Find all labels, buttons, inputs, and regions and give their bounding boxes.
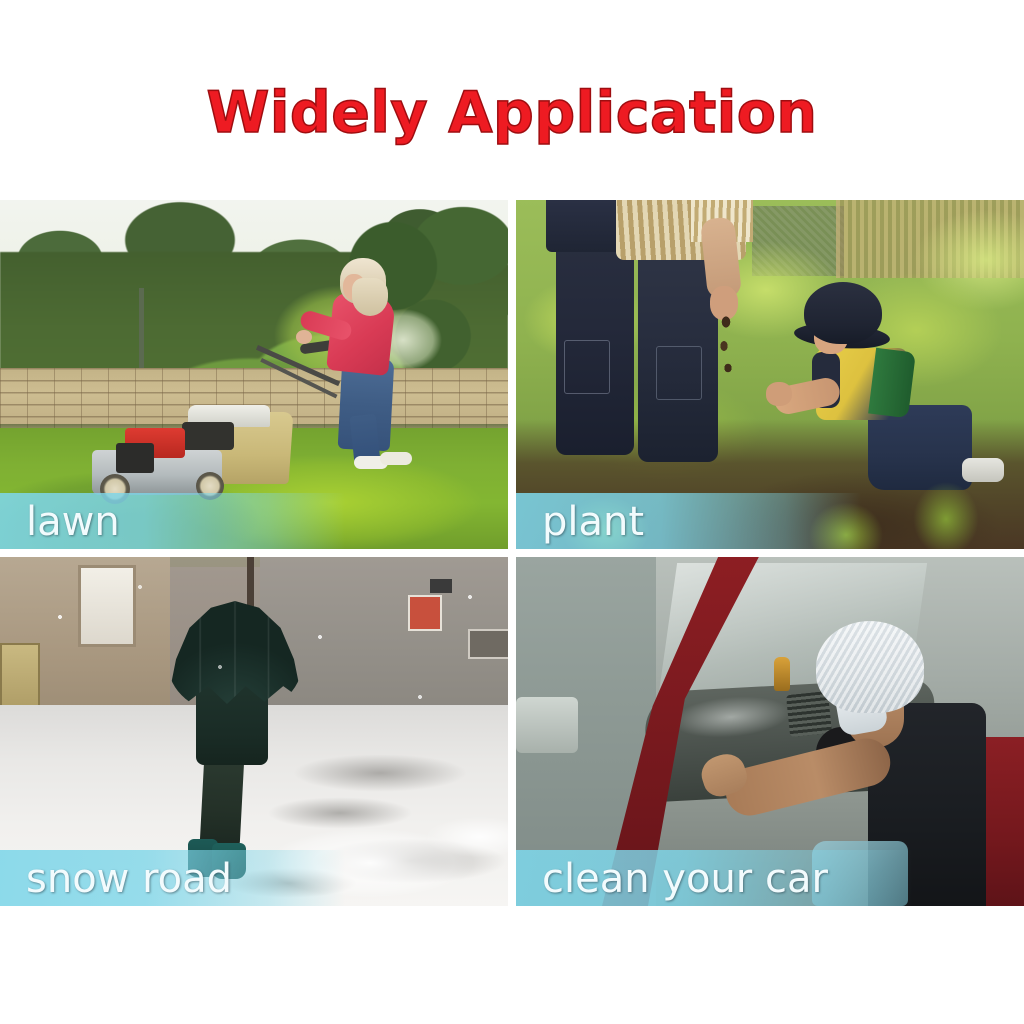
use-case-panel-lawn[interactable]: lawn: [0, 200, 508, 549]
person-shoe-right: [380, 452, 412, 465]
adult-pocket-right: [656, 346, 702, 400]
hair-net: [816, 621, 924, 713]
dashboard-ornament: [774, 657, 790, 691]
page-title: Widely Application: [207, 80, 818, 146]
child-bucket-hat: [804, 282, 882, 344]
mower-engine-block: [116, 443, 154, 473]
photo-clean-your-car: [516, 557, 1024, 906]
photo-snow-road: [0, 557, 508, 906]
use-case-panel-snow-road[interactable]: snow road: [0, 557, 508, 906]
use-case-panel-clean-your-car[interactable]: clean your car: [516, 557, 1024, 906]
product-feature-image: Widely Application: [0, 0, 1024, 1024]
mower-deck: [182, 422, 234, 450]
person-hand: [296, 330, 312, 344]
garden-pole: [139, 288, 144, 368]
mower-wheel-front: [100, 474, 130, 504]
side-mirror: [516, 697, 578, 753]
seedling-roots: [714, 312, 740, 382]
photo-plant: [516, 200, 1024, 549]
person-hair-front: [352, 278, 388, 316]
foreground-plants: [516, 439, 1024, 549]
photo-lawn: [0, 200, 508, 549]
use-case-grid: lawn: [0, 200, 1024, 906]
child-shirt-stripe: [868, 348, 916, 418]
use-case-panel-plant[interactable]: plant: [516, 200, 1024, 549]
snowfall: [0, 557, 508, 906]
mower-wheel-rear: [196, 472, 224, 500]
child-hand: [766, 382, 792, 406]
cleaning-cloth: [812, 841, 908, 906]
title-banner: Widely Application: [0, 0, 1024, 200]
adult-pocket-left: [564, 340, 610, 394]
